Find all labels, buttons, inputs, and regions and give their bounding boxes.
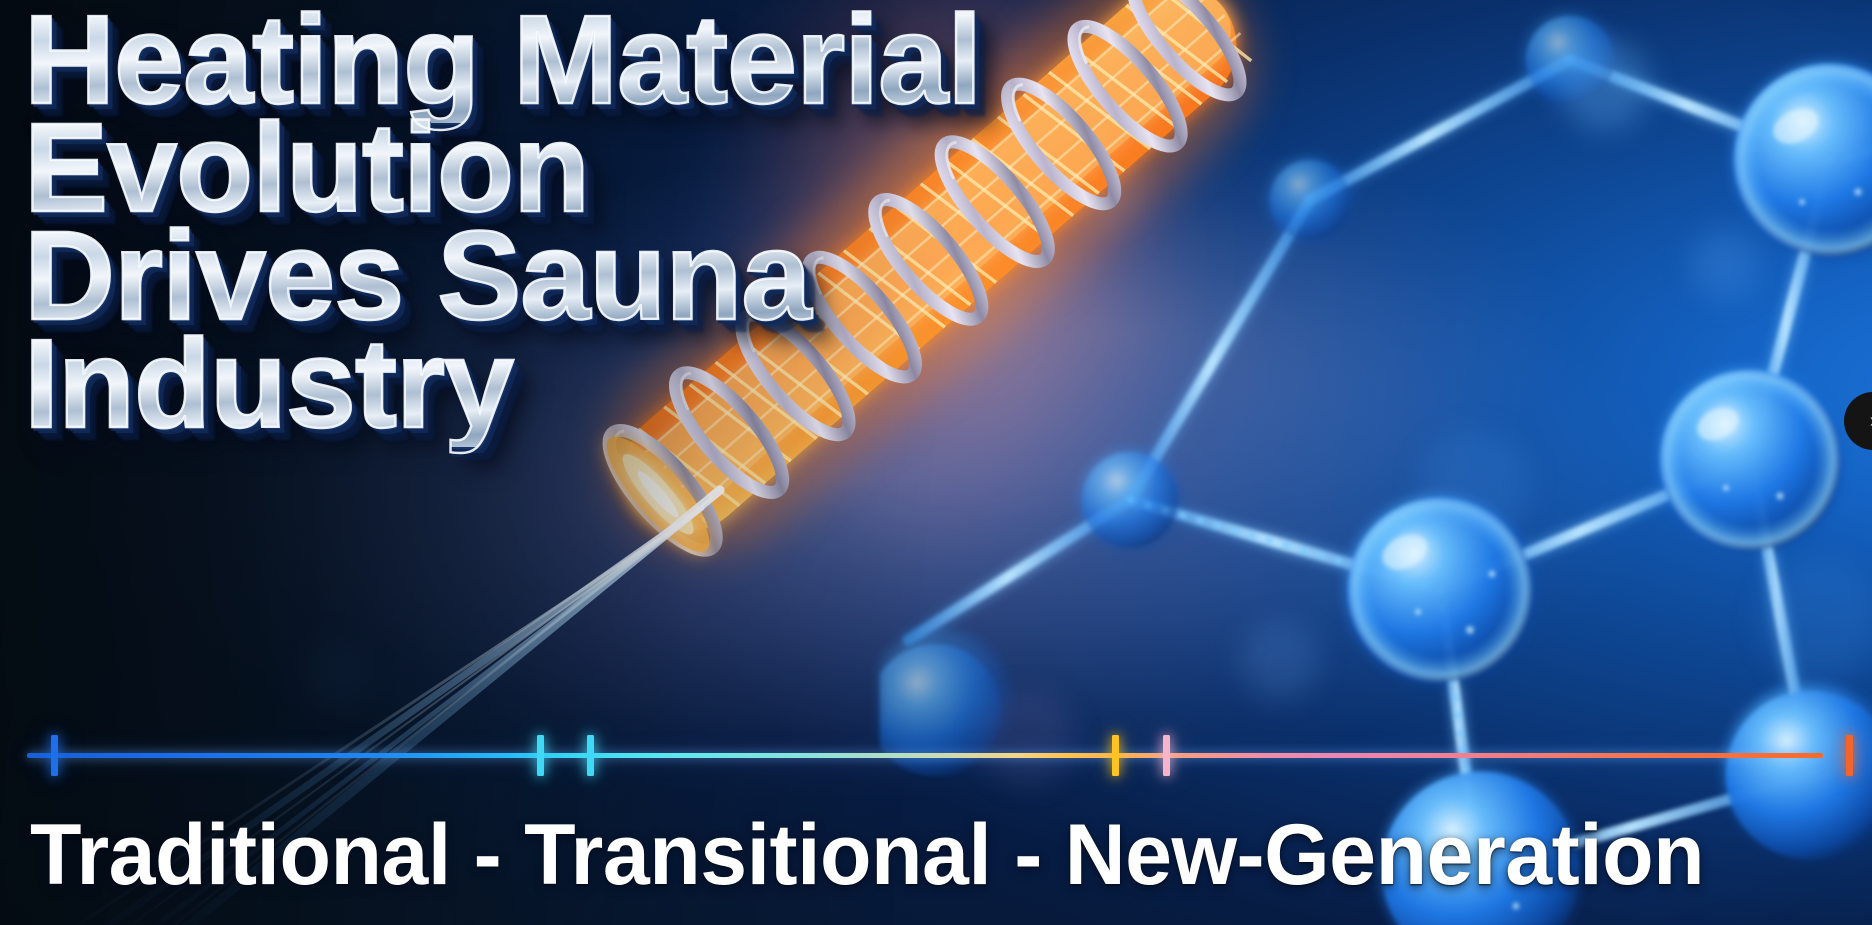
tick-transitional-end[interactable] — [1112, 735, 1119, 776]
evolution-timeline-axis — [27, 753, 1823, 758]
title-line-2-wrap: Evolution Evolution Evolution — [24, 106, 981, 214]
tick-newgen-end[interactable] — [1846, 735, 1853, 776]
tick-transitional-start[interactable] — [587, 735, 594, 776]
banner-hero: Heating Material Heating Material Heatin… — [0, 0, 1872, 925]
title-line-1-wrap: Heating Material Heating Material Heatin… — [24, 0, 981, 106]
tick-newgen-start[interactable] — [1163, 735, 1170, 776]
title-line-3-wrap: Drives Sauna Drives Sauna Drives Sauna — [24, 214, 981, 322]
tick-traditional-end[interactable] — [537, 735, 544, 776]
page-title: Heating Material Heating Material Heatin… — [24, 0, 981, 430]
timeline-caption: Traditional - Transitional - New-Generat… — [30, 806, 1704, 905]
title-line-4: Industry — [24, 322, 981, 447]
title-line-4-wrap: Industry Industry Industry — [24, 322, 981, 430]
tick-traditional-start[interactable] — [51, 735, 58, 776]
